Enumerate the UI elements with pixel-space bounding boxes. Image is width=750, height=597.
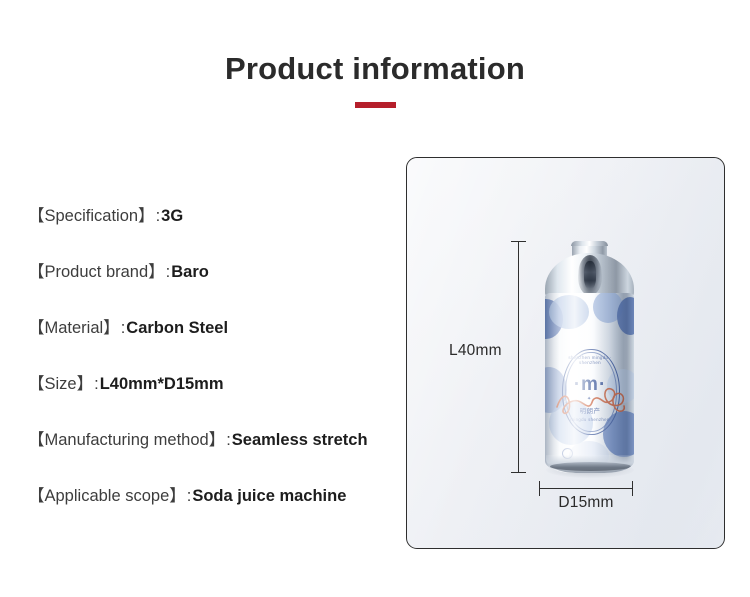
- diameter-dimension-label: D15mm: [539, 494, 633, 512]
- spec-value: Seamless stretch: [232, 431, 368, 449]
- cartridge-body-label: shenzhen mingdu · shenzhen ·m· ✦ 明朗产 min…: [545, 293, 634, 473]
- page-title: Product information: [0, 50, 750, 88]
- spec-row: 【Specification】:3G: [28, 205, 388, 261]
- spec-value: 3G: [161, 207, 183, 225]
- length-dimension-line: [518, 241, 519, 473]
- length-dimension-label: L40mm: [449, 342, 502, 360]
- product-image-panel: L40mm D15mm shenzhen mingdu · shenzhen ·…: [406, 157, 725, 549]
- spec-row: 【Product brand】:Baro: [28, 261, 388, 317]
- spec-row: 【Applicable scope】:Soda juice machine: [28, 485, 388, 541]
- spec-row: 【Material】:Carbon Steel: [28, 317, 388, 373]
- label-blob: [617, 297, 634, 335]
- spec-label: 【Applicable scope】: [28, 487, 186, 505]
- brand-logo-dot-icon: ✦: [587, 397, 591, 401]
- specification-list: 【Specification】:3G 【Product brand】:Baro …: [28, 205, 388, 541]
- spec-label: 【Size】: [28, 375, 93, 393]
- cartridge-crimp-core: [584, 261, 596, 289]
- spec-value: Soda juice machine: [192, 487, 346, 505]
- label-blob: [549, 295, 589, 329]
- spec-value: Carbon Steel: [126, 319, 228, 337]
- brand-logo-cjk-text: 明朗产: [562, 405, 618, 415]
- diameter-dimension-line: [539, 488, 633, 489]
- spec-separator: :: [93, 375, 100, 393]
- spec-label: 【Specification】: [28, 207, 155, 225]
- brand-logo-arc-top-text: shenzhen mingdu · shenzhen: [567, 355, 614, 373]
- spec-row: 【Manufacturing method】:Seamless stretch: [28, 429, 388, 485]
- cartridge-neck-lip: [571, 241, 608, 246]
- brand-logo-arc-bottom-text: mingdu shenzhen: [567, 417, 613, 429]
- co2-cartridge-image: shenzhen mingdu · shenzhen ·m· ✦ 明朗产 min…: [544, 241, 635, 473]
- spec-label: 【Material】: [28, 319, 120, 337]
- spec-label: 【Manufacturing method】: [28, 431, 225, 449]
- title-accent-bar: [355, 102, 396, 108]
- page-header: Product information: [0, 0, 750, 135]
- brand-logo-letter: ·m·: [562, 375, 618, 395]
- spec-separator: :: [225, 431, 232, 449]
- spec-value: L40mm*D15mm: [100, 375, 224, 393]
- spec-value: Baro: [171, 263, 209, 281]
- spec-row: 【Size】:L40mm*D15mm: [28, 373, 388, 429]
- spec-label: 【Product brand】: [28, 263, 165, 281]
- cartridge-bottom-edge: [550, 462, 631, 471]
